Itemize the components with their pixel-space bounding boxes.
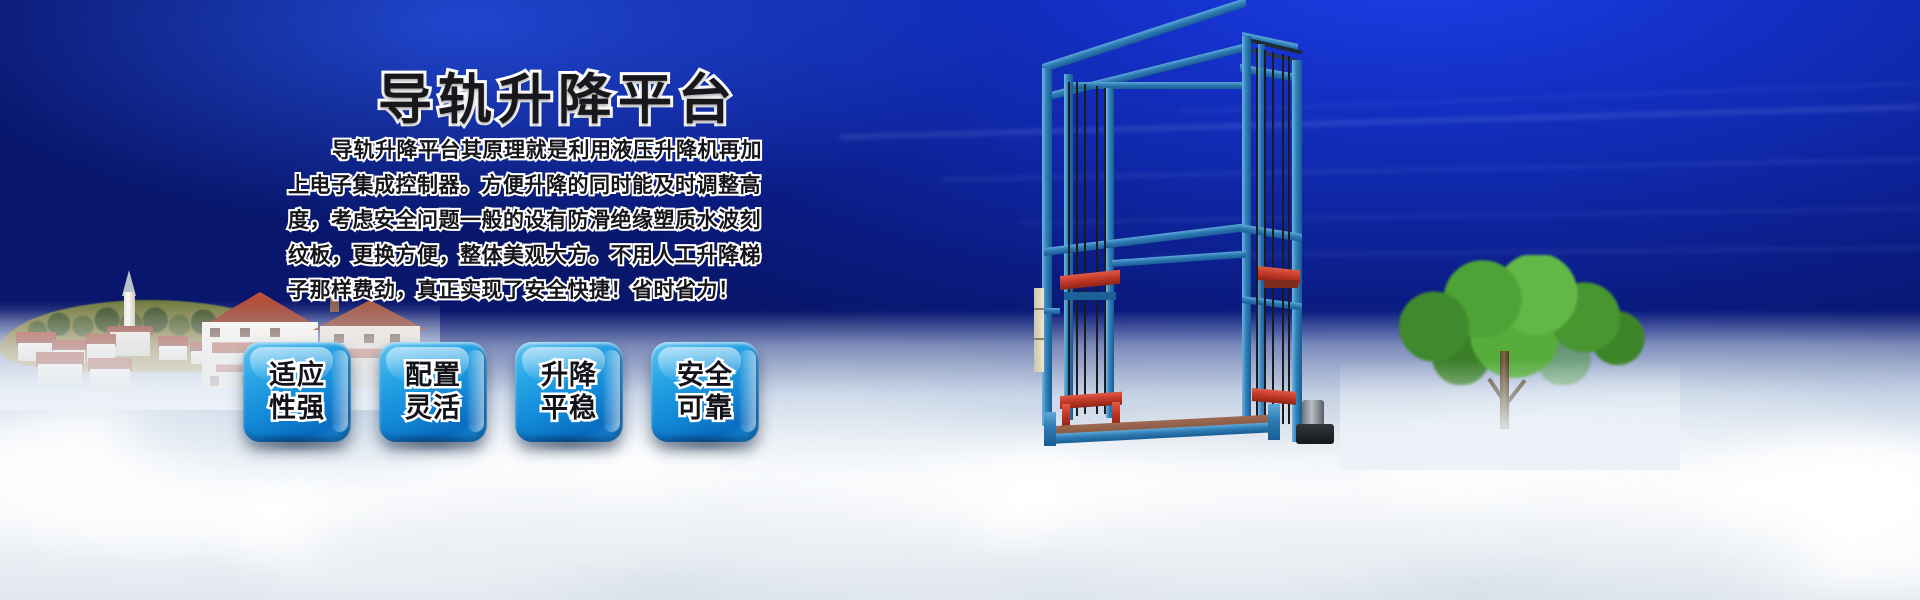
page-title: 导轨升降平台 (378, 55, 738, 134)
feature-label-line1: 配置 (405, 360, 461, 390)
control-box (1034, 288, 1044, 372)
tree-mist-fade (1340, 360, 1680, 470)
badge-shadow (521, 436, 617, 452)
feature-badge-list: 适应 性强 配置 灵活 升降 平稳 安全 可靠 (243, 342, 759, 442)
hydraulic-pump (1302, 400, 1324, 426)
feature-badge-smooth-lift[interactable]: 升降 平稳 (515, 342, 623, 442)
badge-shadow (249, 436, 345, 452)
feature-badge-label: 配置 灵活 (405, 359, 461, 425)
feature-label-line1: 升降 (541, 360, 597, 390)
feature-label-line2: 可靠 (677, 393, 733, 423)
badge-shadow (385, 436, 481, 452)
product-description: 导轨升降平台其原理就是利用液压升降机再加上电子集成控制器。方便升降的同时能及时调… (288, 133, 764, 308)
product-banner: 导轨升降平台 导轨升降平台其原理就是利用液压升降机再加上电子集成控制器。方便升降… (0, 0, 1920, 600)
feature-badge-label: 适应 性强 (269, 359, 325, 425)
feature-label-line1: 适应 (269, 360, 325, 390)
feature-label-line2: 平稳 (541, 393, 597, 423)
feature-label-line2: 灵活 (405, 393, 461, 423)
feature-label-line1: 安全 (677, 360, 733, 390)
feature-badge-label: 升降 平稳 (541, 359, 597, 425)
feature-badge-label: 安全 可靠 (677, 359, 733, 425)
feature-badge-adaptability[interactable]: 适应 性强 (243, 342, 351, 442)
feature-badge-configuration[interactable]: 配置 灵活 (379, 342, 487, 442)
guide-rail-lift-platform-image (1020, 8, 1360, 488)
feature-badge-safety[interactable]: 安全 可靠 (651, 342, 759, 442)
feature-label-line2: 性强 (269, 393, 325, 423)
badge-shadow (657, 436, 753, 452)
